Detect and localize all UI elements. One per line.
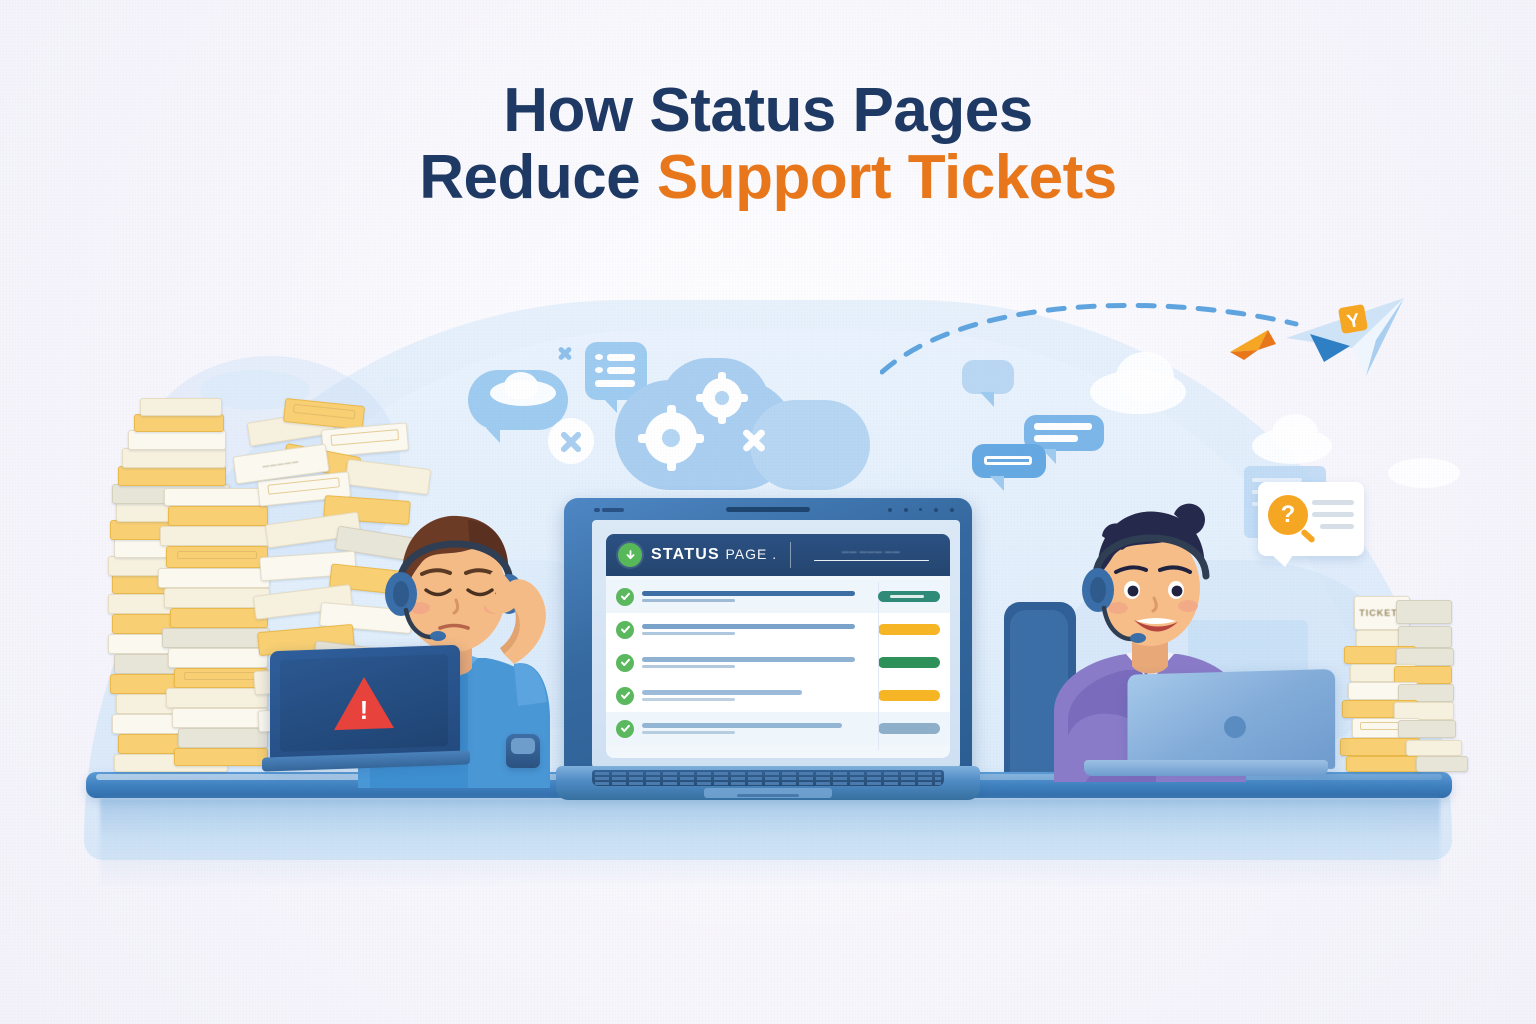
envelope xyxy=(158,568,270,588)
gear-tooth xyxy=(718,372,726,382)
gear-hole xyxy=(715,391,729,405)
gear-tooth xyxy=(667,405,676,417)
laptop-logo xyxy=(1224,716,1246,738)
check-circle-icon xyxy=(616,621,634,639)
skeleton-bar-primary xyxy=(642,657,855,662)
headline: How Status Pages Reduce Support Tickets xyxy=(0,78,1536,212)
skeleton-bar-secondary xyxy=(642,665,735,668)
illustration-canvas: Y xyxy=(0,0,1536,1024)
bezel-dot xyxy=(904,508,908,512)
status-row[interactable] xyxy=(606,646,950,679)
envelope xyxy=(118,466,226,486)
status-row[interactable] xyxy=(606,613,950,646)
bezel-line xyxy=(602,508,624,512)
status-row-skeleton xyxy=(642,690,864,701)
bubble-line-4 xyxy=(607,367,635,374)
envelope xyxy=(168,506,268,526)
gear-tooth xyxy=(738,394,748,402)
ticket-envelope xyxy=(1398,720,1456,738)
bubble-line xyxy=(1034,435,1078,442)
webcam-bar xyxy=(726,507,810,512)
skeleton-bar-primary xyxy=(642,723,842,728)
status-badge xyxy=(878,690,940,701)
status-page-title-bold: STATUS xyxy=(651,546,720,563)
mouse-device xyxy=(506,734,540,768)
envelope xyxy=(162,628,270,648)
header-divider xyxy=(790,542,791,568)
laptop-notch xyxy=(737,794,799,797)
check-circle-icon xyxy=(616,588,634,606)
headline-line-2-highlight: Support Tickets xyxy=(657,143,1117,212)
envelope-flap xyxy=(331,429,399,446)
cloud-icon-2b xyxy=(1272,414,1318,452)
laptop-base xyxy=(1084,760,1328,776)
status-page-meta-text: —— ——— —— xyxy=(804,549,938,556)
ticket-envelope xyxy=(1406,740,1462,756)
gear-tooth xyxy=(692,434,704,443)
cloud-in-bubble-b xyxy=(504,372,538,400)
status-row-skeleton xyxy=(642,723,864,734)
gear-icon-1 xyxy=(645,412,697,464)
envelope-label-text: ───── xyxy=(262,456,300,471)
status-page-meta: —— ——— —— xyxy=(804,549,938,562)
envelope xyxy=(160,526,270,546)
bubble-line-5 xyxy=(595,380,635,387)
ticket-stack: TICKETS xyxy=(1336,596,1486,776)
gear-tooth xyxy=(638,434,650,443)
status-page-title-light: PAGE . xyxy=(725,546,777,562)
faq-line-3 xyxy=(1320,524,1354,529)
magnifier-question-icon: ? xyxy=(1268,495,1308,535)
alert-laptop xyxy=(270,648,470,778)
status-page-body xyxy=(606,576,950,758)
keyboard-row xyxy=(595,772,941,775)
gear-tooth xyxy=(667,459,676,471)
bubble-line xyxy=(984,456,1032,465)
skeleton-bar-primary xyxy=(642,690,802,695)
envelope xyxy=(172,708,268,728)
status-badge xyxy=(878,657,940,668)
orange-dart-icon xyxy=(1228,326,1280,362)
bezel-dot xyxy=(919,508,922,511)
ticket-envelope xyxy=(1416,756,1468,772)
envelope xyxy=(128,430,226,450)
status-row-skeleton xyxy=(642,657,864,668)
desk-reflection xyxy=(100,798,1440,888)
envelope xyxy=(122,448,226,468)
laptop-lid xyxy=(1128,669,1336,769)
status-row-skeleton xyxy=(642,591,864,602)
cloud-icon-3 xyxy=(1388,458,1460,488)
bubble-line-1 xyxy=(595,354,603,360)
bubble-line xyxy=(1034,423,1092,430)
ticket-envelope xyxy=(1396,600,1452,624)
status-badge xyxy=(878,591,940,602)
check-circle-icon xyxy=(616,720,634,738)
envelope xyxy=(164,488,268,506)
skeleton-bar-secondary xyxy=(642,632,735,635)
faq-line-1 xyxy=(1312,500,1354,505)
status-row[interactable] xyxy=(606,580,950,613)
status-column-divider xyxy=(878,582,879,750)
x-mark-icon-3 xyxy=(556,345,574,363)
gear-tooth xyxy=(696,394,706,402)
status-row[interactable] xyxy=(606,712,950,745)
warning-triangle-icon xyxy=(334,676,394,730)
skeleton-bar-secondary xyxy=(642,731,735,734)
headline-line-2: Reduce Support Tickets xyxy=(0,145,1536,212)
headline-line-1: How Status Pages xyxy=(0,78,1536,145)
gear-icon-2 xyxy=(702,378,742,418)
laptop-lid xyxy=(270,645,460,764)
question-mark-glyph: ? xyxy=(1268,495,1308,535)
envelope xyxy=(140,398,222,416)
laptop-keyboard xyxy=(592,770,944,786)
envelope-flap xyxy=(184,672,258,680)
bubble-line-2 xyxy=(607,354,635,361)
envelope-flap xyxy=(177,551,257,559)
envelope-flap xyxy=(293,404,356,420)
skeleton-bar-primary xyxy=(642,591,855,596)
status-page-meta-rule xyxy=(814,560,929,562)
gear-hole xyxy=(662,429,680,447)
envelope xyxy=(178,728,268,748)
status-page-laptop: STATUS PAGE . —— ——— —— xyxy=(556,498,980,798)
keyboard-row xyxy=(595,777,941,780)
faq-line-2 xyxy=(1312,512,1354,517)
laptop-lid: STATUS PAGE . —— ——— —— xyxy=(564,498,972,784)
envelope xyxy=(134,414,224,432)
skeleton-bar-secondary xyxy=(642,698,735,701)
headline-line-2-prefix: Reduce xyxy=(419,143,657,212)
bezel-dot xyxy=(950,508,954,512)
skeleton-bar-secondary xyxy=(642,599,735,602)
x-mark-icon-2 xyxy=(736,422,772,458)
status-badge xyxy=(878,723,940,734)
skeleton-bar-primary xyxy=(642,624,855,629)
envelope xyxy=(166,688,268,708)
ticket-envelope xyxy=(1398,626,1452,648)
keyboard-row xyxy=(595,782,941,785)
x-mark-icon-1 xyxy=(548,418,594,464)
status-row[interactable] xyxy=(606,679,950,712)
bubble-line-3 xyxy=(595,367,603,373)
envelope xyxy=(170,608,268,628)
gear-tooth xyxy=(718,414,726,424)
status-row-skeleton xyxy=(642,624,864,635)
envelope xyxy=(168,648,268,668)
status-page-header: STATUS PAGE . —— ——— —— xyxy=(606,534,950,576)
status-badge xyxy=(878,624,940,635)
status-page-title: STATUS PAGE . xyxy=(651,546,777,564)
bezel-marker xyxy=(594,508,600,512)
laptop-screen: STATUS PAGE . —— ——— —— xyxy=(592,520,960,768)
download-circle-icon xyxy=(618,543,642,567)
envelope xyxy=(166,546,268,568)
ticket-envelope xyxy=(1346,756,1422,772)
envelope xyxy=(174,748,268,766)
check-circle-icon xyxy=(616,654,634,672)
check-circle-icon xyxy=(616,687,634,705)
bezel-dot xyxy=(934,508,938,512)
laptop-screen xyxy=(280,654,448,752)
bezel-dot xyxy=(888,508,892,512)
paper-plane-icon: Y xyxy=(1280,290,1410,380)
faq-search-card: ? xyxy=(1258,482,1364,556)
agent-laptop xyxy=(1078,672,1328,782)
